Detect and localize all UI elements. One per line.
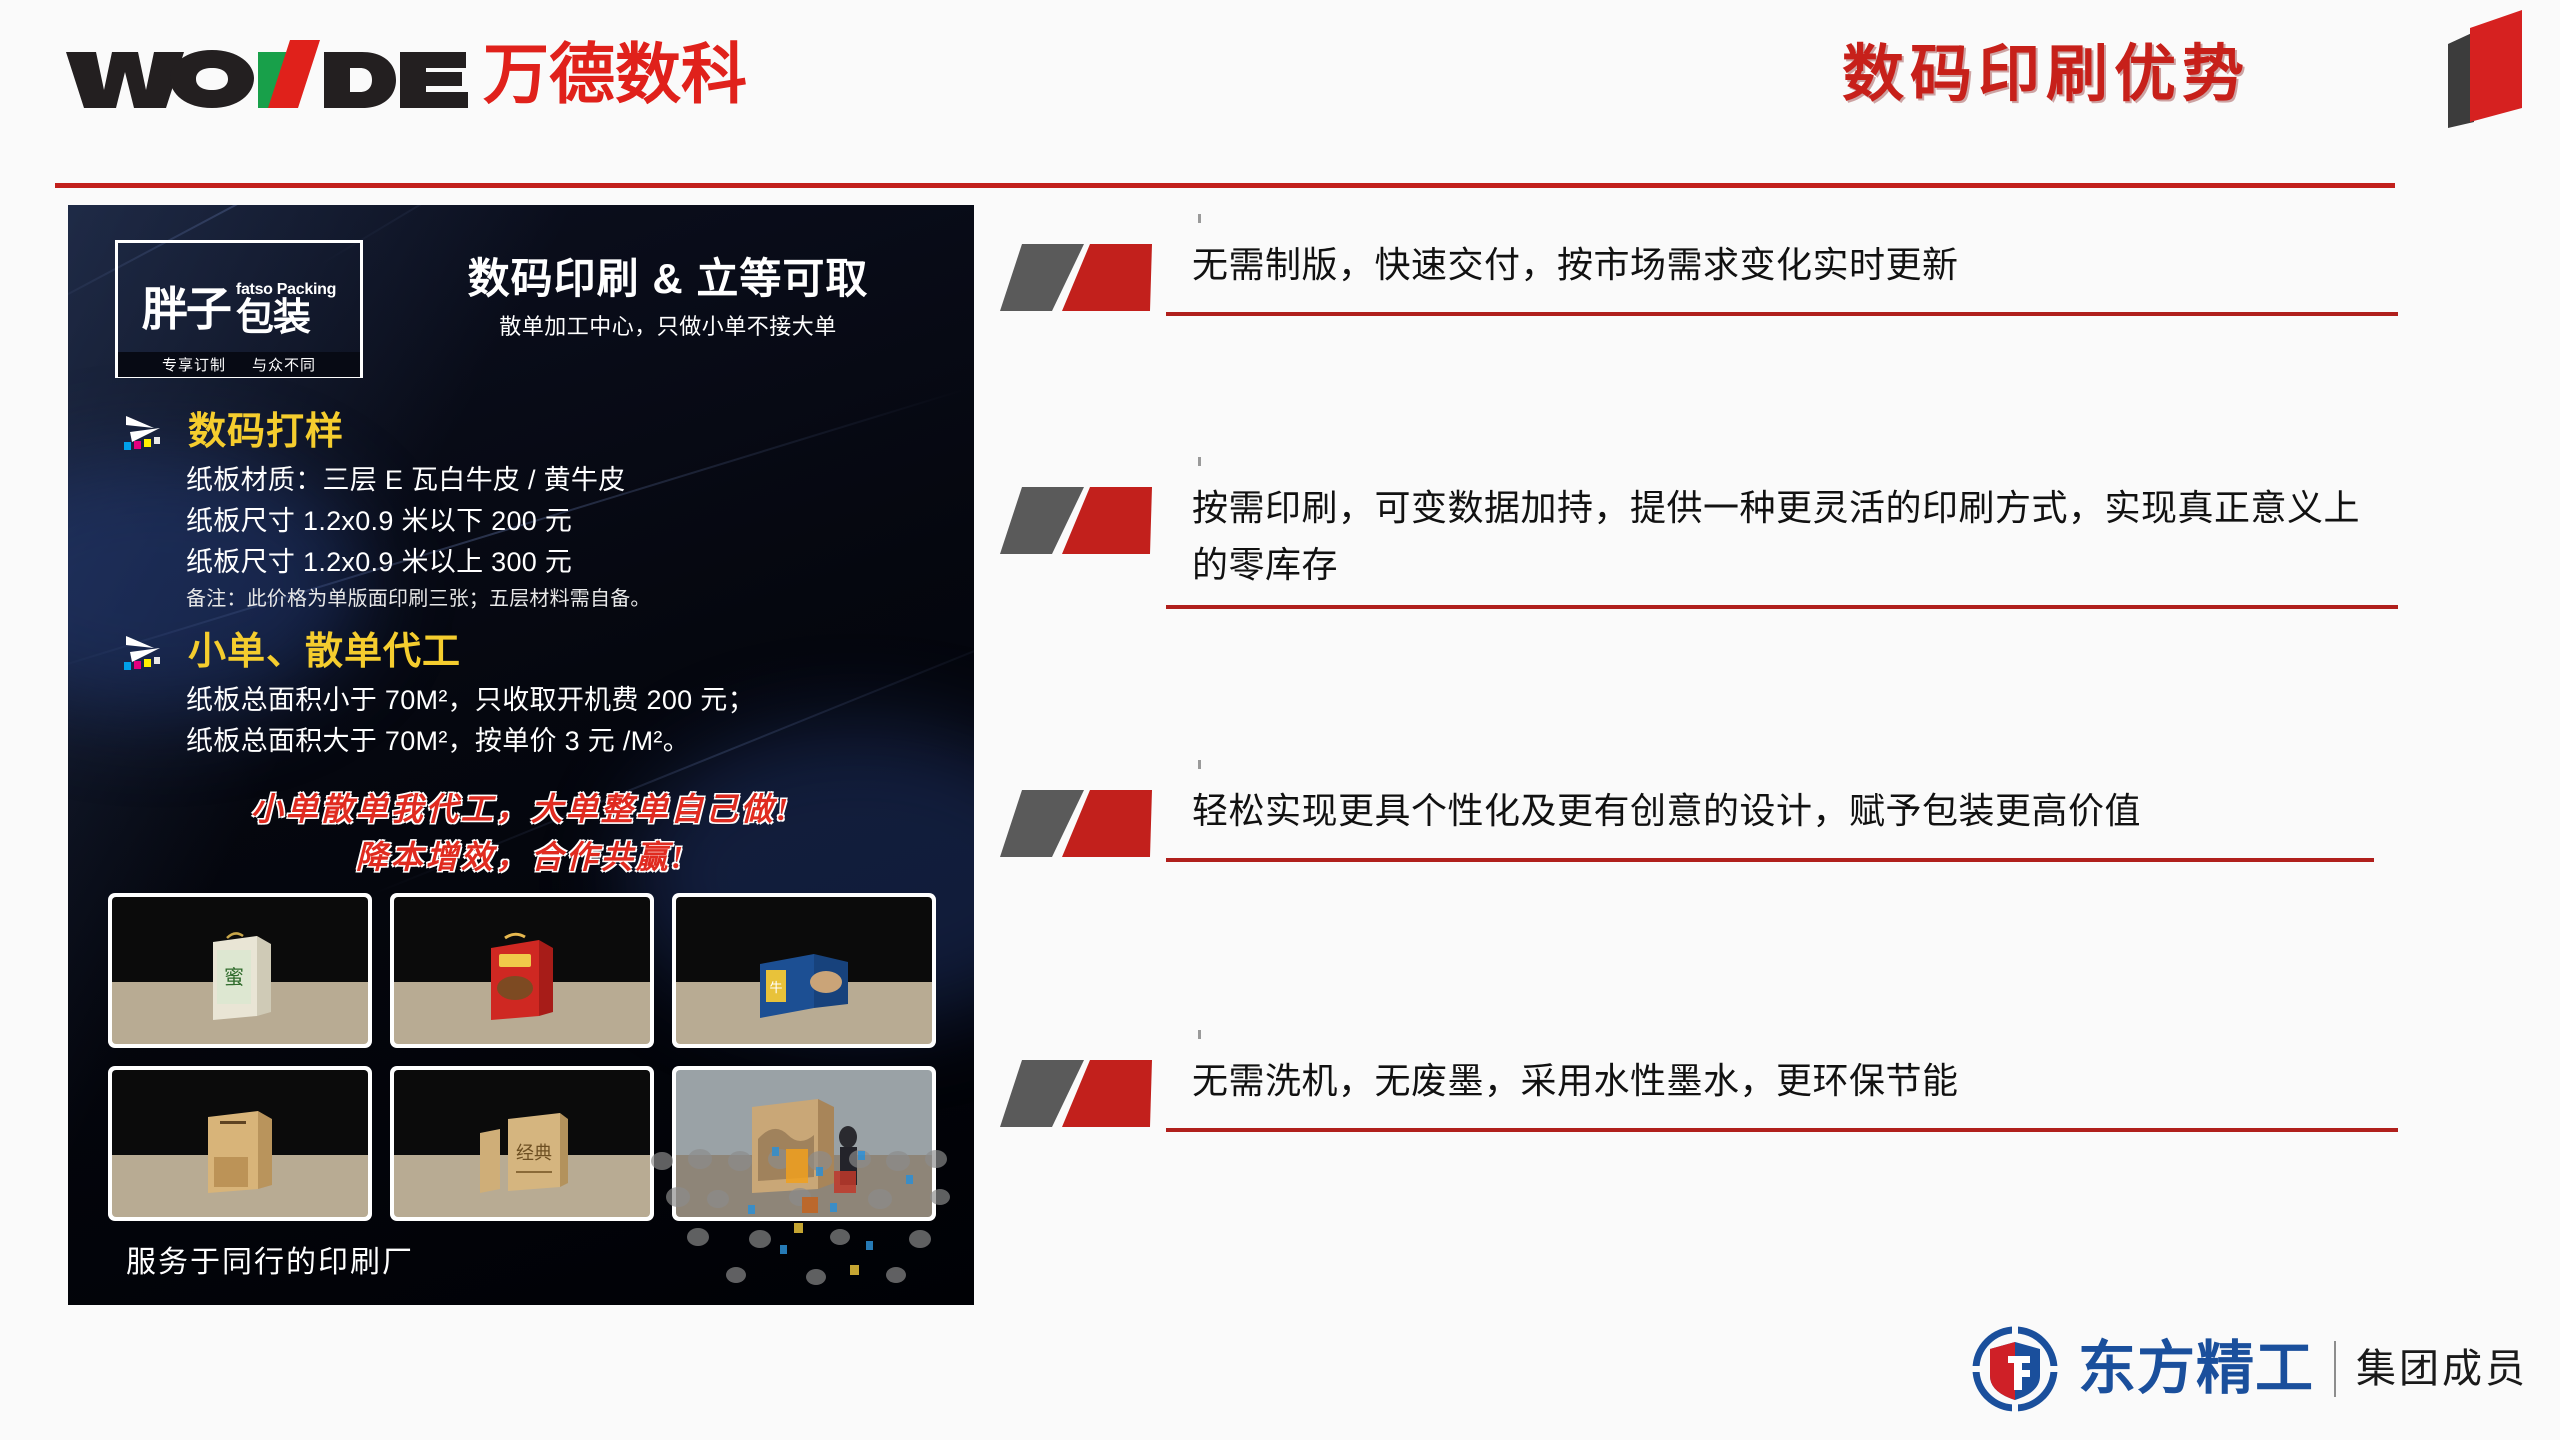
dongfang-shield-icon (1972, 1326, 2058, 1412)
tick-mark (1198, 760, 1201, 769)
group-member-label: 集团成员 (2356, 1345, 2528, 1393)
fatso-packing-logo: 胖子 fatso Packing 包装 专享订制 与众不同 (115, 240, 363, 378)
svg-text:牛: 牛 (769, 980, 782, 995)
cmyk-arrow-icon (120, 632, 174, 672)
chevron-marker-icon (1000, 483, 1190, 558)
logo-baozhuang: 包装 (236, 298, 336, 338)
poster-section-proofing: 数码打样 纸板材质：三层 E 瓦白牛皮 / 黄牛皮 纸板尺寸 1.2x0.9 米… (120, 410, 940, 615)
product-photo (108, 1066, 372, 1221)
section-line: 纸板材质：三层 E 瓦白牛皮 / 黄牛皮 (186, 460, 940, 501)
advantage-text: 无需洗机，无废墨，采用水性墨水，更环保节能 (1192, 1052, 2382, 1109)
advantage-text: 按需印刷，可变数据加持，提供一种更灵活的印刷方式，实现真正意义上的零库存 (1192, 479, 2382, 593)
product-photo (390, 893, 654, 1048)
dot-pattern-decoration (644, 1145, 974, 1305)
chevron-marker-icon (1000, 786, 1190, 861)
group-member-logo: 东方精工 集团成员 (1972, 1326, 2528, 1412)
box-classic-kraft-icon: 经典 (474, 1107, 570, 1193)
chevron-marker-icon (1000, 1056, 1190, 1131)
product-photo: 经典 (390, 1066, 654, 1221)
product-photo: 蜜 (108, 893, 372, 1048)
promo-poster: 胖子 fatso Packing 包装 专享订制 与众不同 数码印刷 & 立等可… (68, 205, 974, 1305)
section-line: 纸板总面积小于 70M²，只收取开机费 200 元； (186, 680, 940, 721)
poster-headline-block: 数码印刷 & 立等可取 散单加工中心，只做小单不接大单 (398, 253, 938, 343)
advantage-text: 轻松实现更具个性化及更有创意的设计，赋予包装更高价值 (1192, 782, 2382, 839)
advantage-underline (1166, 858, 2374, 862)
advantage-text: 无需制版，快速交付，按市场需求变化实时更新 (1192, 236, 2382, 293)
wonder-latin-logo (62, 38, 477, 110)
header-divider (55, 183, 2395, 188)
cmyk-arrow-icon (120, 412, 174, 452)
slogan-line-1: 小单散单我代工，大单整单自己做! (68, 785, 974, 833)
box-honey-icon: 蜜 (203, 928, 277, 1020)
section-title: 小单、散单代工 (188, 630, 461, 674)
poster-footer-text: 服务于同行的印刷厂 (126, 1243, 414, 1283)
poster-headline: 数码印刷 & 立等可取 (398, 253, 938, 305)
company-name: 东方精工 (2078, 1337, 2314, 1401)
section-title: 数码打样 (188, 410, 344, 454)
slide-header: 万德数科 数码印刷优势 (0, 0, 2560, 190)
logo-tagline-left: 专享订制 (162, 354, 226, 375)
box-red-gift-icon (483, 930, 561, 1020)
advantage-underline (1166, 605, 2398, 609)
logo-tagline-right: 与众不同 (252, 354, 316, 375)
wonder-chinese-name: 万德数科 (483, 38, 747, 110)
section-line: 纸板总面积大于 70M²，按单价 3 元 /M²。 (186, 721, 940, 762)
box-kraft-handle-icon (200, 1101, 280, 1193)
advantage-underline (1166, 1128, 2398, 1132)
section-line: 纸板尺寸 1.2x0.9 米以下 200 元 (186, 501, 940, 542)
poster-slogan: 小单散单我代工，大单整单自己做! 降本增效，合作共赢! (68, 785, 974, 881)
product-photo: 牛 (672, 893, 936, 1048)
poster-section-oem: 小单、散单代工 纸板总面积小于 70M²，只收取开机费 200 元； 纸板总面积… (120, 630, 940, 762)
wonder-logo: 万德数科 (62, 38, 747, 110)
tick-mark (1198, 1030, 1201, 1039)
poster-subheadline: 散单加工中心，只做小单不接大单 (398, 311, 938, 343)
page-title: 数码印刷优势 (1842, 36, 2250, 114)
footer-divider (2334, 1341, 2336, 1397)
box-blue-beef-icon: 牛 (756, 948, 852, 1020)
corner-decoration-icon (2448, 10, 2538, 128)
logo-fatso-cn: 胖子 (142, 285, 230, 333)
logo-fatso-en: fatso Packing (236, 281, 336, 298)
advantage-underline (1166, 312, 2398, 316)
slogan-line-2: 降本增效，合作共赢! (68, 833, 974, 881)
wonder-wordmark-icon (62, 38, 477, 110)
section-line: 纸板尺寸 1.2x0.9 米以上 300 元 (186, 542, 940, 583)
chevron-marker-icon (1000, 240, 1190, 315)
tick-mark (1198, 457, 1201, 466)
tick-mark (1198, 214, 1201, 223)
svg-text:蜜: 蜜 (224, 966, 244, 989)
section-note: 备注：此价格为单版面印刷三张；五层材料需自备。 (186, 583, 940, 615)
svg-text:经典: 经典 (516, 1143, 552, 1163)
